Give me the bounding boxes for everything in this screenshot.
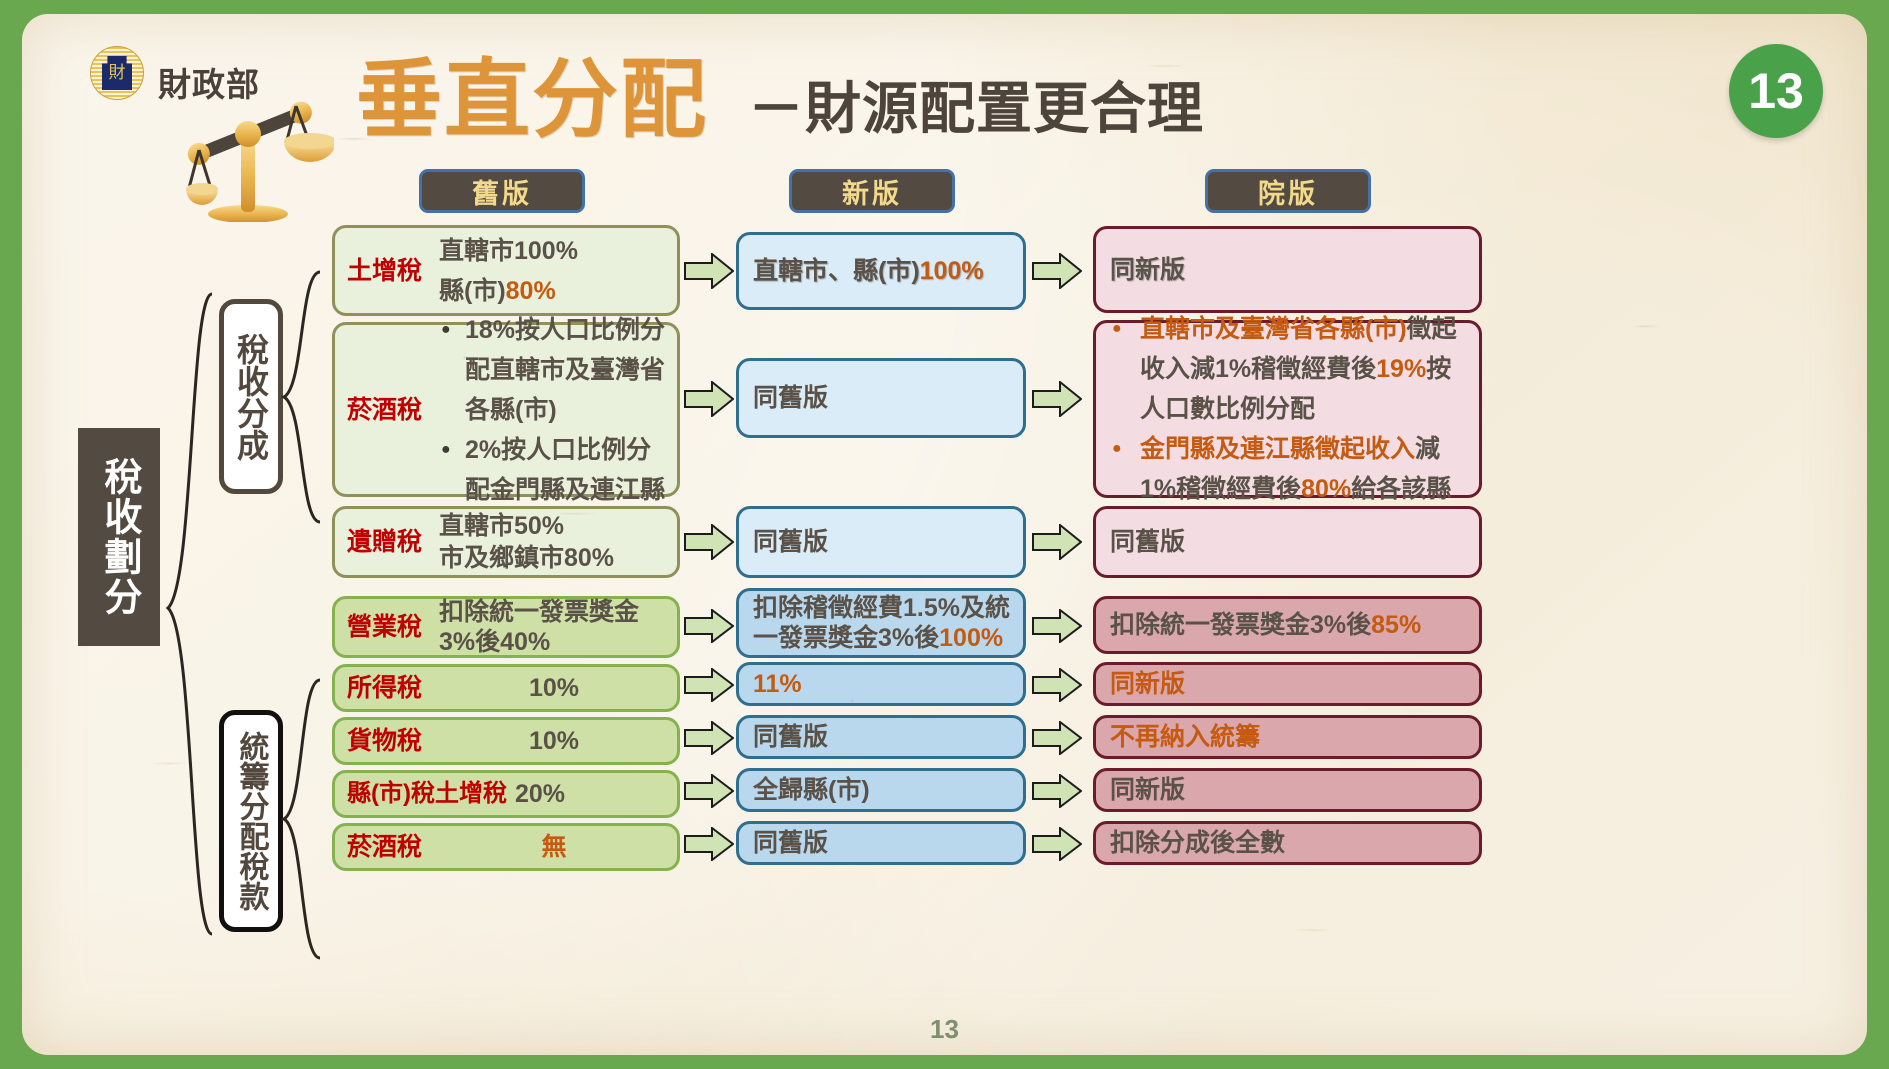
table-row: 所得稅 10% <box>332 664 680 712</box>
sidebar-label-allocation: 統籌分配稅款 <box>219 710 283 932</box>
curly-brace-icon-main <box>160 284 216 944</box>
old-value: 10% <box>439 667 677 709</box>
page-subtitle: －財源配置更合理 <box>748 76 1204 142</box>
exec-value: 同新版 <box>1096 253 1195 287</box>
new-value: 全歸縣(市) <box>739 773 878 807</box>
exec-value: 同新版 <box>1096 773 1195 807</box>
old-value: 10% <box>439 720 677 762</box>
new-value: 扣除稽徵經費1.5%及統一發票獎金3%後100% <box>739 593 1023 653</box>
table-row: 菸酒稅 無 <box>332 823 680 871</box>
tax-name: 遺贈稅 <box>335 527 439 557</box>
right-arrow-icon <box>684 381 734 417</box>
new-cell: 11% <box>736 662 1026 706</box>
new-cell: 同舊版 <box>736 506 1026 578</box>
tax-name: 縣(市)稅土增稅 <box>335 779 515 809</box>
tax-name: 貨物稅 <box>335 726 439 756</box>
curly-brace-icon-allocation <box>280 674 324 964</box>
new-value: 同舊版 <box>739 720 836 754</box>
new-value: 同舊版 <box>739 525 836 559</box>
right-arrow-icon <box>1032 827 1082 861</box>
new-cell: 全歸縣(市) <box>736 768 1026 812</box>
page-number-badge: 13 <box>1729 44 1823 138</box>
new-cell: 同舊版 <box>736 821 1026 865</box>
new-value: 直轄市、縣(市)100% <box>739 254 992 288</box>
sidebar-label-tax-share-text: 稅收分成 <box>231 333 271 461</box>
exec-value: 直轄市及臺灣省各縣(市)徵起收入減1%稽徵經費後19%按人口數比例分配 金門縣及… <box>1096 309 1479 509</box>
exec-cell: 同舊版 <box>1093 506 1482 578</box>
tax-name: 土增稅 <box>335 256 439 286</box>
exec-value: 不再納入統籌 <box>1096 720 1270 754</box>
table-row: 縣(市)稅土增稅 20% <box>332 770 680 818</box>
list-item: 18%按人口比例分配直轄市及臺灣省各縣(市) <box>439 310 669 430</box>
list-item: 2%按人口比例分配金門縣及連江縣 <box>439 430 669 510</box>
right-arrow-icon <box>1032 381 1082 417</box>
list-item: 金門縣及連江縣徵起收入減1%稽徵經費後80%給各該縣 <box>1110 429 1469 509</box>
right-arrow-icon <box>1032 609 1082 643</box>
column-header-exec: 院版 <box>1205 169 1371 213</box>
exec-cell: 扣除統一發票獎金3%後85% <box>1093 596 1482 654</box>
balance-scale-icon <box>186 88 334 222</box>
new-value: 11% <box>739 667 810 701</box>
exec-value: 同舊版 <box>1096 525 1195 559</box>
sidebar-label-tax-share: 稅收分成 <box>219 299 283 494</box>
exec-cell: 扣除分成後全數 <box>1093 821 1482 865</box>
new-cell: 扣除稽徵經費1.5%及統一發票獎金3%後100% <box>736 588 1026 658</box>
table-row: 營業稅 扣除統一發票獎金 3%後40% <box>332 596 680 658</box>
new-value: 同舊版 <box>739 826 836 860</box>
exec-value: 扣除統一發票獎金3%後85% <box>1096 608 1431 642</box>
footer-page-number: 13 <box>22 1014 1867 1045</box>
sidebar-label-allocation-text: 統籌分配稅款 <box>233 731 270 911</box>
right-arrow-icon <box>1032 668 1082 702</box>
new-cell: 同舊版 <box>736 358 1026 438</box>
old-value: 直轄市50% 市及鄉鎮市80% <box>439 510 677 574</box>
curly-brace-icon-tax-share <box>280 266 324 528</box>
old-value: 18%按人口比例分配直轄市及臺灣省各縣(市) 2%按人口比例分配金門縣及連江縣 <box>439 310 677 510</box>
exec-cell: 不再納入統籌 <box>1093 715 1482 759</box>
table-row: 遺贈稅 直轄市50% 市及鄉鎮市80% <box>332 506 680 578</box>
slide-canvas: 財政部 垂直分配 －財源配置更合理 13 13 舊版 <box>22 14 1867 1055</box>
right-arrow-icon <box>1032 524 1082 560</box>
tax-name: 菸酒稅 <box>335 832 439 862</box>
old-value: 扣除統一發票獎金 3%後40% <box>439 597 677 657</box>
column-header-old: 舊版 <box>419 169 585 213</box>
page-title: 垂直分配 <box>356 52 708 148</box>
right-arrow-icon <box>684 827 734 861</box>
old-value: 直轄市100% 縣(市)80% <box>439 231 677 311</box>
exec-cell: 直轄市及臺灣省各縣(市)徵起收入減1%稽徵經費後19%按人口數比例分配 金門縣及… <box>1093 320 1482 498</box>
right-arrow-icon <box>684 774 734 808</box>
tax-name: 營業稅 <box>335 612 439 642</box>
right-arrow-icon <box>684 524 734 560</box>
table-row: 菸酒稅 18%按人口比例分配直轄市及臺灣省各縣(市) 2%按人口比例分配金門縣及… <box>332 322 680 497</box>
table-row: 土增稅 直轄市100% 縣(市)80% <box>332 225 680 316</box>
ministry-crest-icon <box>90 46 144 100</box>
exec-cell: 不再納入統籌 同新版 <box>1093 662 1482 706</box>
right-arrow-icon <box>1032 721 1082 755</box>
right-arrow-icon <box>684 609 734 643</box>
tax-name: 所得稅 <box>335 673 439 703</box>
exec-cell: 同新版 <box>1093 768 1482 812</box>
exec-cell: 同新版 <box>1093 226 1482 313</box>
table-row: 貨物稅 10% <box>332 717 680 765</box>
new-value: 同舊版 <box>739 381 836 415</box>
right-arrow-icon <box>1032 774 1082 808</box>
old-value: 20% <box>515 773 677 815</box>
sidebar-label-tax-division: 稅收劃分 <box>78 428 160 646</box>
list-item: 直轄市及臺灣省各縣(市)徵起收入減1%稽徵經費後19%按人口數比例分配 <box>1110 309 1469 429</box>
old-value: 無 <box>439 826 677 868</box>
tax-name: 菸酒稅 <box>335 395 439 425</box>
right-arrow-icon <box>1032 253 1082 289</box>
new-cell: 同舊版 <box>736 715 1026 759</box>
new-cell: 直轄市、縣(市)100% <box>736 232 1026 310</box>
right-arrow-icon <box>684 721 734 755</box>
sidebar-label-tax-division-text: 稅收劃分 <box>93 457 145 617</box>
column-header-new: 新版 <box>789 169 955 213</box>
right-arrow-icon <box>684 668 734 702</box>
exec-value: 扣除分成後全數 <box>1096 826 1295 860</box>
exec-value-text: 同新版 <box>1096 667 1195 701</box>
right-arrow-icon <box>684 253 734 289</box>
